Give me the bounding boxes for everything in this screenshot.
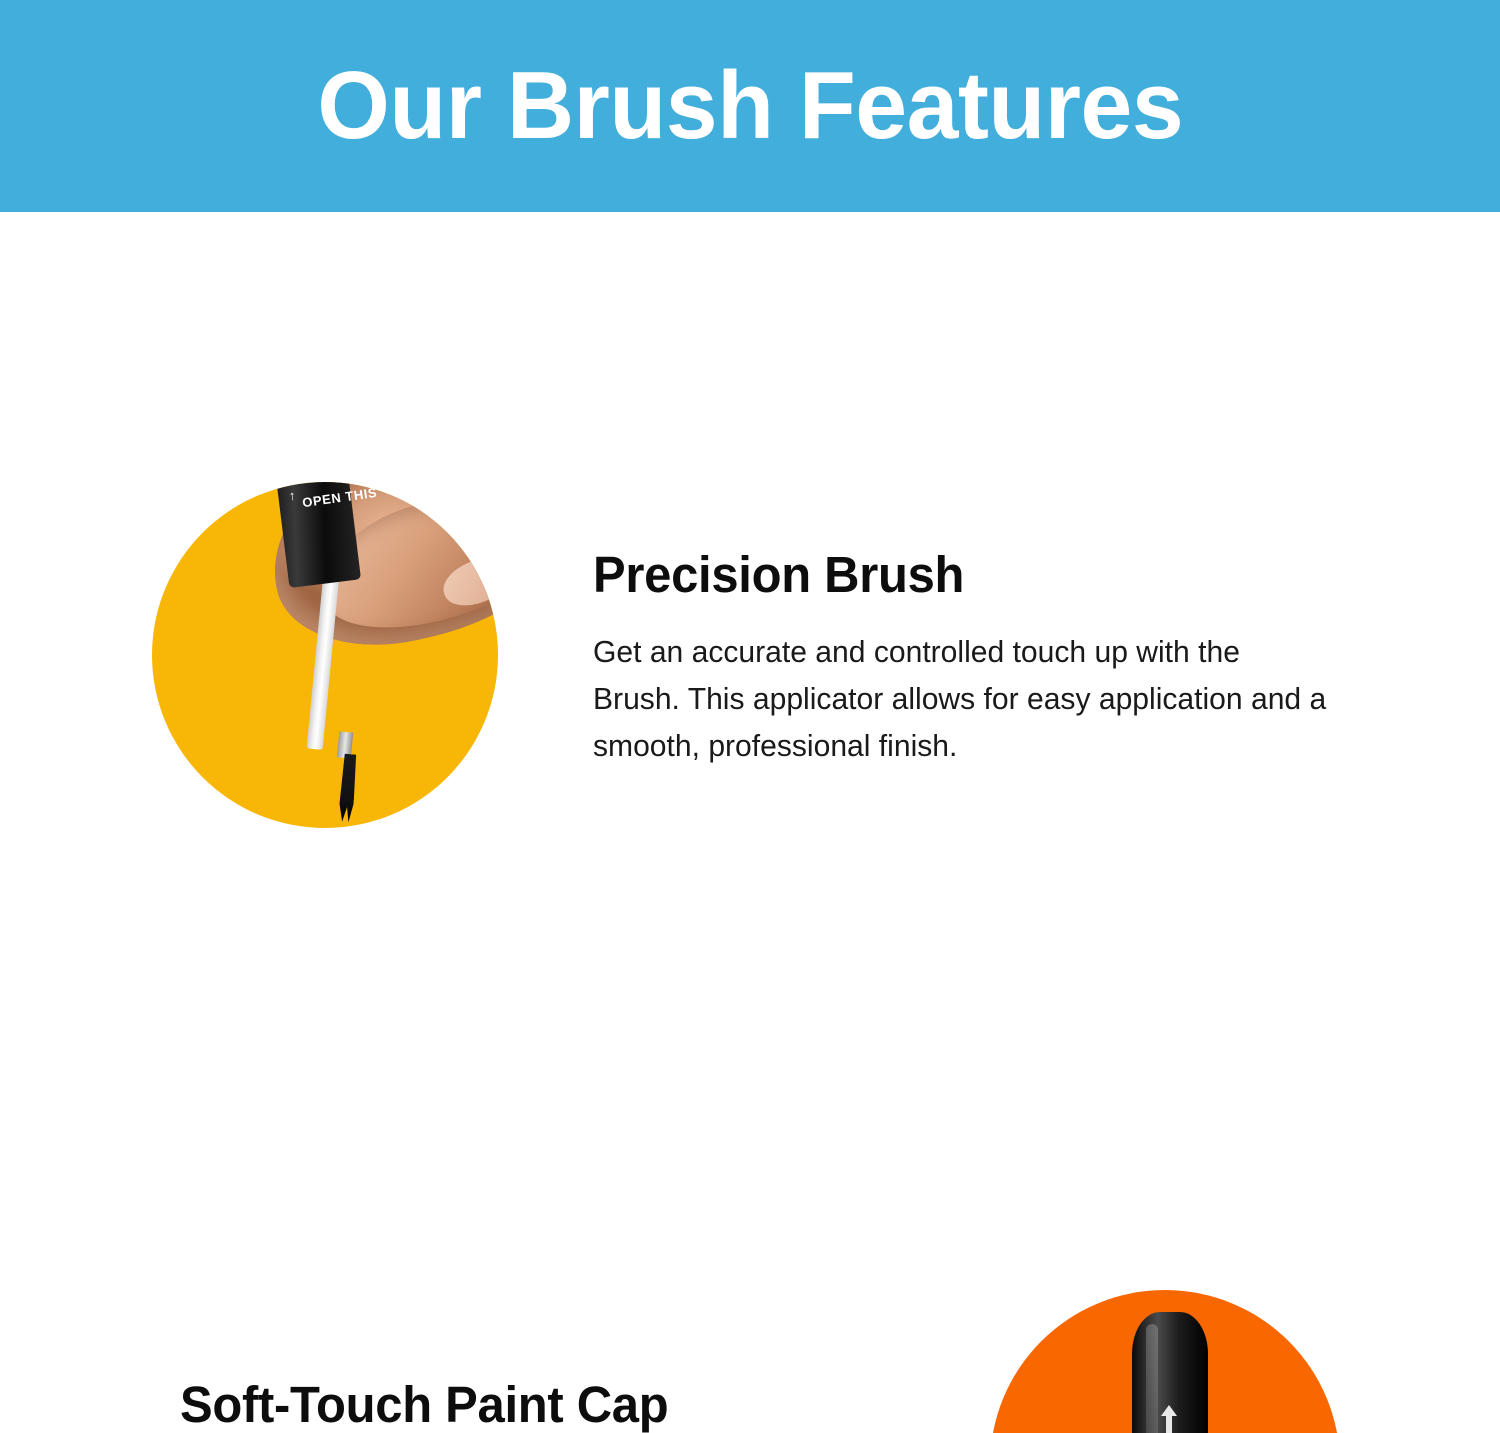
header-banner: Our Brush Features <box>0 0 1500 212</box>
feature-row-improved-inner-cap-design: OPEN THIS Improved Inner Cap Design The … <box>0 1060 1500 1433</box>
infographic-page: Our Brush Features ↑ OPEN THIS Precision… <box>0 0 1500 1433</box>
page-title: Our Brush Features <box>317 58 1183 154</box>
feature-heading-precision-brush: Precision Brush <box>593 548 1323 602</box>
feature-row-precision-brush: ↑ OPEN THIS Precision Brush Get an accur… <box>0 212 1500 652</box>
paint-pen-cap <box>275 482 361 588</box>
feature-row-soft-touch-paint-cap: Soft-Touch Paint Cap The newly designed … <box>0 640 1500 1060</box>
